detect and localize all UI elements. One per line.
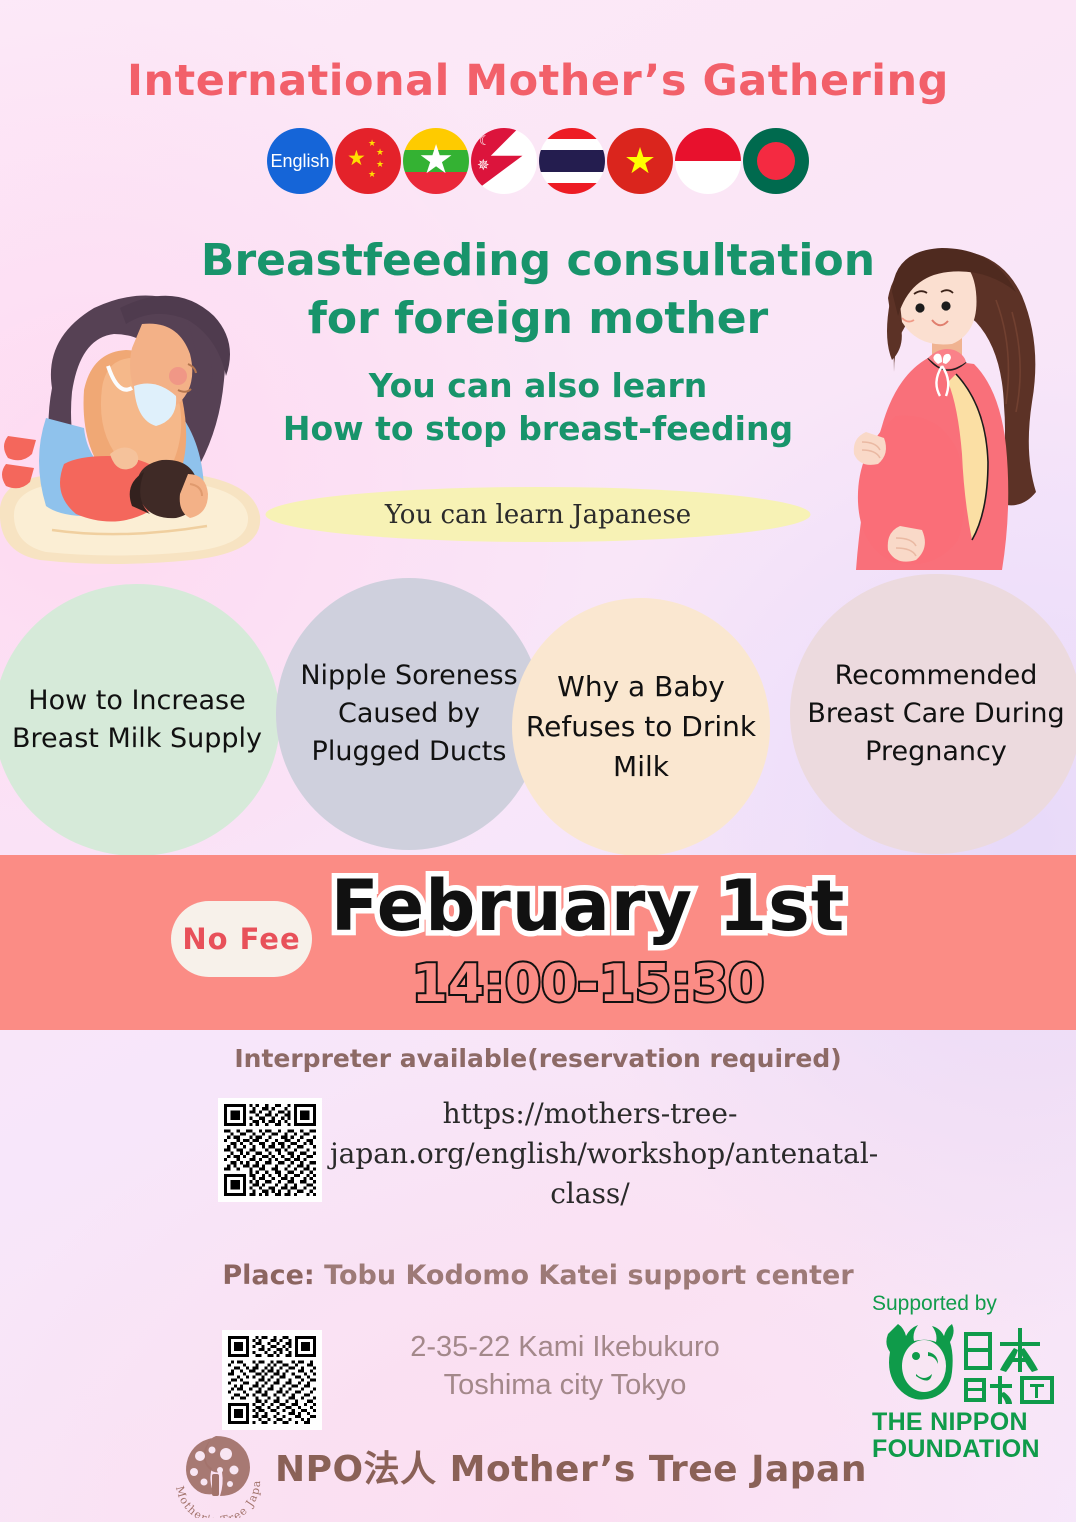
learn-japanese-banner: You can learn Japanese — [266, 487, 811, 542]
page-title: International Mother’s Gathering — [0, 56, 1076, 106]
star-glyph: ★ — [624, 143, 656, 179]
moon-glyph: ☾ — [479, 134, 491, 147]
poster-root: International Mother’s Gathering English… — [0, 0, 1076, 1522]
topic-circle-4-label: Recommended Breast Care During Pregnancy — [798, 657, 1074, 772]
subheadline-line1: You can also learn — [0, 365, 1076, 408]
supporter-logo: Supported by — [872, 1292, 1058, 1463]
date-banner: No Fee February 1st 14:00-15:30 — [0, 855, 1076, 1030]
qr-code-url-graphic — [224, 1104, 316, 1196]
flag-indonesia-icon[interactable] — [675, 128, 741, 194]
nippon-foundation-mark-icon — [872, 1318, 1058, 1404]
topic-circle-2-label: Nipple Soreness Caused by Plugged Ducts — [284, 657, 534, 772]
sun-glyph: ✵ — [477, 158, 490, 173]
address-line-1: 2-35-22 Kami Ikebukuro — [330, 1328, 800, 1366]
star-glyph: ★ — [418, 140, 454, 180]
topic-circle-1: How to Increase Breast Milk Supply — [0, 584, 280, 856]
flag-myanmar-icon[interactable]: ★ — [403, 128, 469, 194]
place-line: Place: Tobu Kodomo Katei support center — [0, 1260, 1076, 1291]
language-flag-row: English ★ ★ ★ ★ ★ ★ ☾ ✵ ★ — [0, 128, 1076, 194]
qr-code-map-graphic — [228, 1336, 316, 1424]
supported-by-label: Supported by — [872, 1292, 1058, 1316]
headline-line2: for foreign mother — [0, 290, 1076, 348]
venue-address: 2-35-22 Kami Ikebukuro Toshima city Toky… — [330, 1328, 800, 1405]
subheadline: You can also learn How to stop breast-fe… — [0, 365, 1076, 451]
interpreter-note: Interpreter available(reservation requir… — [0, 1044, 1076, 1073]
flag-nepal-icon[interactable]: ☾ ✵ — [471, 128, 537, 194]
flag-english-label: English — [270, 151, 329, 172]
place-venue: Tobu Kodomo Katei support center — [324, 1260, 854, 1291]
organizer-name: NPO法人 Mother’s Tree Japan — [275, 1440, 867, 1492]
qr-code-url[interactable] — [218, 1098, 322, 1202]
flag-english[interactable]: English — [267, 128, 333, 194]
topic-circle-3-label: Why a Baby Refuses to Drink Milk — [520, 667, 762, 786]
bangladesh-disc — [757, 142, 795, 180]
topic-circle-group: How to Increase Breast Milk Supply Nippl… — [0, 578, 1076, 860]
event-time: 14:00-15:30 — [0, 954, 1076, 1014]
star-glyph: ★ — [368, 170, 376, 179]
topic-circle-2: Nipple Soreness Caused by Plugged Ducts — [276, 578, 542, 850]
topic-circle-4: Recommended Breast Care During Pregnancy — [790, 574, 1076, 854]
nf-name-line-2: FOUNDATION — [872, 1436, 1058, 1463]
nippon-foundation-name: THE NIPPON FOUNDATION — [872, 1409, 1058, 1463]
workshop-url[interactable]: https://mothers-tree-japan.org/english/w… — [330, 1094, 850, 1213]
event-date: February 1st — [0, 865, 1076, 947]
flag-china-icon[interactable]: ★ ★ ★ ★ ★ — [335, 128, 401, 194]
flag-bangladesh-icon[interactable] — [743, 128, 809, 194]
star-glyph: ★ — [347, 148, 366, 169]
address-line-2: Toshima city Tokyo — [330, 1366, 800, 1404]
flag-vietnam-icon[interactable]: ★ — [607, 128, 673, 194]
topic-circle-1-label: How to Increase Breast Milk Supply — [2, 682, 272, 759]
mothers-tree-japan-logo-icon: Mother's Tree Japan — [168, 1428, 266, 1518]
place-label: Place: — [222, 1260, 314, 1291]
topic-circle-3: Why a Baby Refuses to Drink Milk — [512, 598, 770, 856]
subheadline-line2: How to stop breast-feeding — [0, 408, 1076, 451]
star-glyph: ★ — [376, 148, 384, 157]
headline: Breastfeeding consultation for foreign m… — [0, 232, 1076, 348]
headline-line1: Breastfeeding consultation — [0, 232, 1076, 290]
flag-thailand-icon[interactable] — [539, 128, 605, 194]
learn-japanese-text: You can learn Japanese — [385, 500, 691, 530]
star-glyph: ★ — [376, 160, 384, 169]
nf-name-line-1: THE NIPPON — [872, 1409, 1058, 1436]
star-glyph: ★ — [368, 139, 376, 148]
qr-code-map[interactable] — [222, 1330, 322, 1430]
